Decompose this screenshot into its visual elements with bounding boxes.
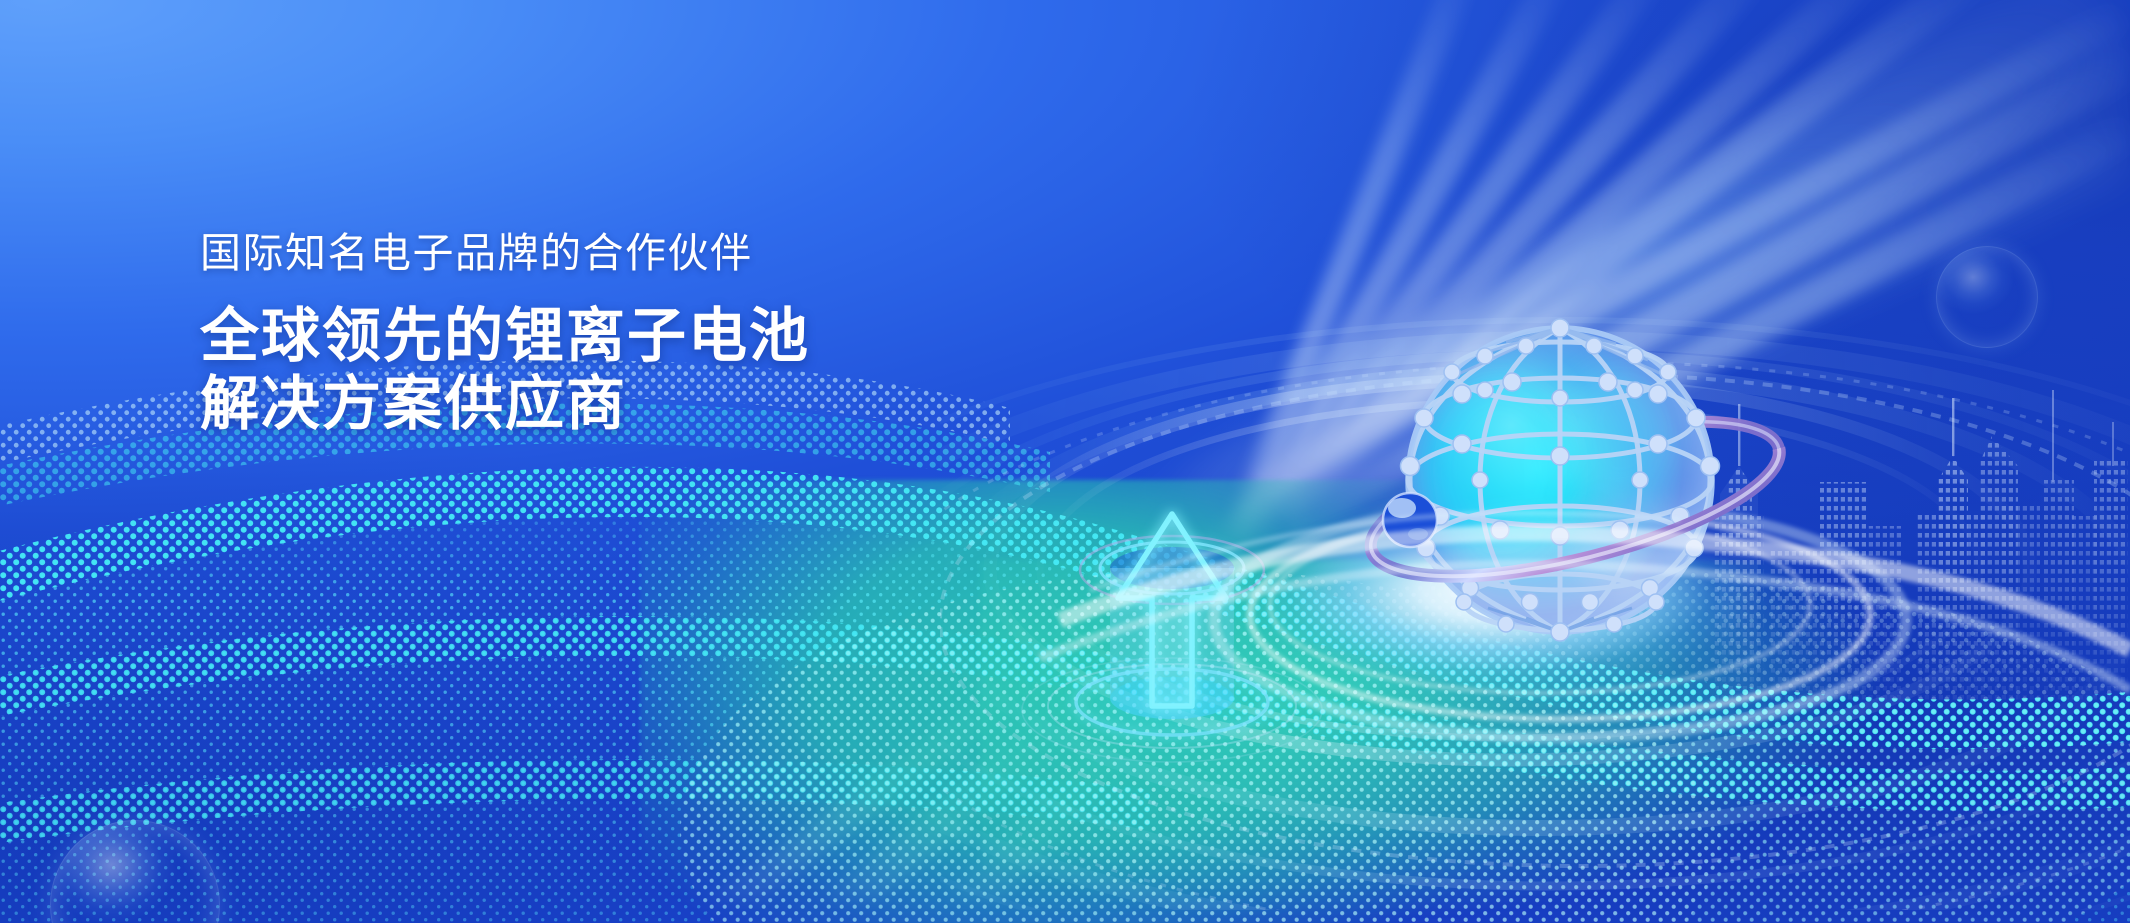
wireframe-globe — [1401, 319, 1720, 641]
hero-headline-line-2: 解决方案供应商 — [200, 370, 810, 438]
hero-headline: 全球领先的锂离子电池 解决方案供应商 — [200, 302, 810, 439]
hero-banner: 国际知名电子品牌的合作伙伴 全球领先的锂离子电池 解决方案供应商 — [0, 0, 2130, 923]
bubble-top-right — [1936, 246, 2038, 348]
hero-eyebrow: 国际知名电子品牌的合作伙伴 — [200, 228, 810, 280]
hero-copy: 国际知名电子品牌的合作伙伴 全球领先的锂离子电池 解决方案供应商 — [200, 228, 810, 439]
hero-headline-line-1: 全球领先的锂离子电池 — [200, 302, 810, 370]
